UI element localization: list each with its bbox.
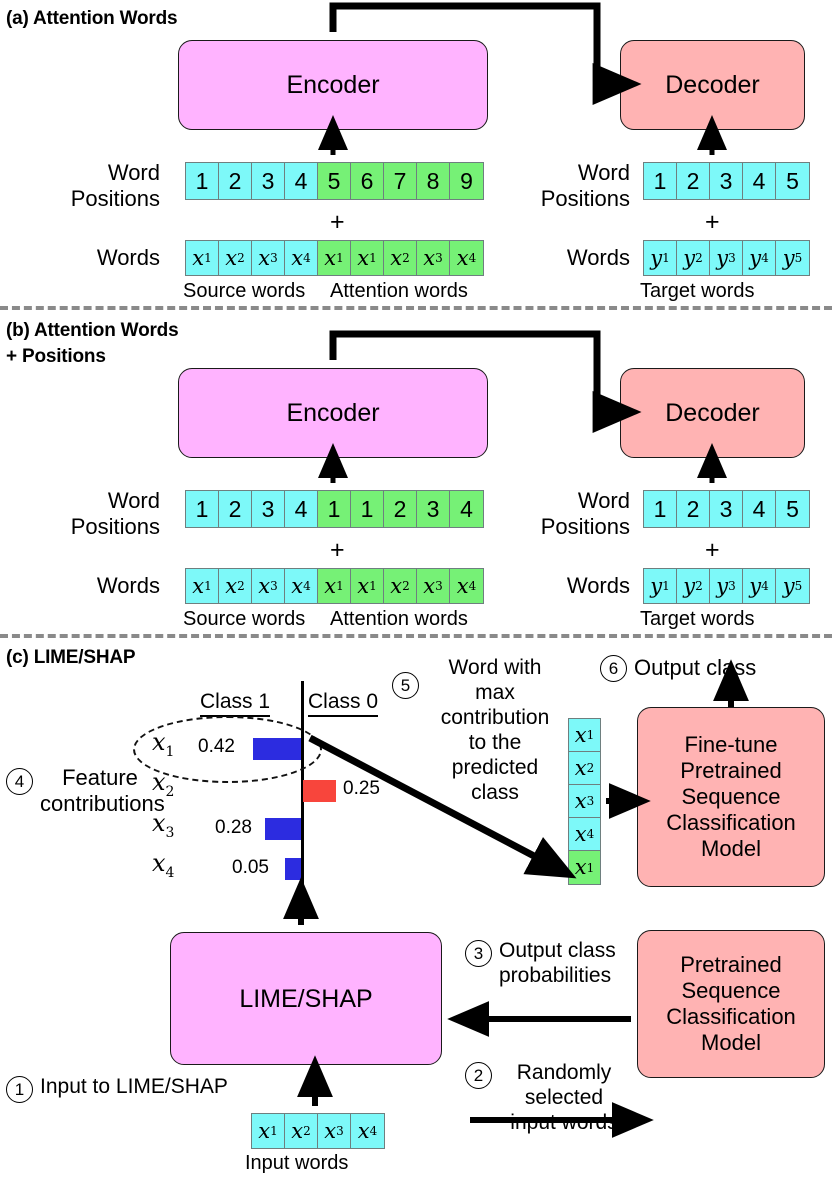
step-4-label: Feature contributions <box>40 765 160 817</box>
token-cell: x2 <box>384 569 417 603</box>
token-cell: 5 <box>776 491 809 527</box>
step-5-badge: 5 <box>392 672 419 699</box>
panel-b-target-caption: Target words <box>640 606 755 632</box>
token-cell: x1 <box>186 569 219 603</box>
panel-b-attention-caption: Attention words <box>330 606 468 632</box>
token-cell: 4 <box>743 163 776 199</box>
finetune-model-box: Fine-tune Pretrained Sequence Classifica… <box>637 707 825 887</box>
panel-a-attention-caption: Attention words <box>330 278 468 304</box>
token-cell: x2 <box>219 241 252 275</box>
step-3-label: Output class probabilities <box>499 938 639 988</box>
panel-b-title: (b) Attention Words + Positions <box>6 318 178 370</box>
token-cell: y3 <box>710 241 743 275</box>
selected-word-cell: x4 <box>569 818 600 851</box>
panel-a-decoder-positions-strip: 12345 <box>643 162 810 200</box>
panel-a-encoder-words-strip: x1x2x3x4x1x1x2x3x4 <box>185 240 484 276</box>
token-cell: y1 <box>644 569 677 603</box>
lime-shap-label: LIME/SHAP <box>239 984 372 1014</box>
selected-word-cell: x3 <box>569 785 600 818</box>
step-1-badge: 1 <box>6 1076 33 1103</box>
token-cell: x1 <box>186 241 219 275</box>
step-6-label: Output class <box>634 655 756 681</box>
panel-b-encoder-label: Encoder <box>286 398 379 428</box>
token-cell: 5 <box>318 163 351 199</box>
panel-a-target-caption: Target words <box>640 278 755 304</box>
step-2-label: Randomly selected input words <box>499 1060 629 1135</box>
panel-b-source-caption: Source words <box>183 606 305 632</box>
token-cell: x3 <box>318 1114 351 1148</box>
step-2-badge: 2 <box>465 1062 492 1089</box>
panel-a-encoder-box: Encoder <box>178 40 488 130</box>
chart-class1-header: Class 1 <box>200 690 270 717</box>
chart-highlight-ellipse <box>133 716 322 783</box>
chart-bar-x2 <box>303 780 336 802</box>
token-cell: x4 <box>285 569 318 603</box>
selected-word-cell: x1 <box>569 719 600 752</box>
panel-b-decoder-positions-strip: 12345 <box>643 490 810 528</box>
token-cell: 9 <box>450 163 483 199</box>
token-cell: 2 <box>219 163 252 199</box>
chart-bar-x4 <box>285 858 301 880</box>
token-cell: x3 <box>252 569 285 603</box>
token-cell: x1 <box>318 241 351 275</box>
panel-a-source-positions-label: Word Positions <box>60 160 160 212</box>
token-cell: y1 <box>644 241 677 275</box>
token-cell: x2 <box>384 241 417 275</box>
token-cell: 3 <box>252 163 285 199</box>
token-cell: 4 <box>285 163 318 199</box>
token-cell: y5 <box>776 241 809 275</box>
token-cell: 1 <box>644 163 677 199</box>
panel-a-decoder-box: Decoder <box>620 40 805 130</box>
panel-a-encoder-label: Encoder <box>286 70 379 100</box>
panel-a-source-words-label: Words <box>60 245 160 271</box>
lime-shap-box: LIME/SHAP <box>170 932 442 1065</box>
token-cell: x4 <box>450 569 483 603</box>
chart-class0-header: Class 0 <box>308 690 378 717</box>
token-cell: x4 <box>285 241 318 275</box>
step-4-badge: 4 <box>6 768 33 795</box>
panel-b-decoder-box: Decoder <box>620 368 805 458</box>
step-3-badge: 3 <box>465 940 492 967</box>
panel-a-plus-target: + <box>705 210 720 235</box>
token-cell: 1 <box>351 491 384 527</box>
token-cell: 4 <box>450 491 483 527</box>
step-1-label: Input to LIME/SHAP <box>40 1074 228 1100</box>
token-cell: 3 <box>252 491 285 527</box>
token-cell: 3 <box>710 491 743 527</box>
panel-b-source-words-label: Words <box>60 573 160 599</box>
token-cell: x3 <box>417 569 450 603</box>
token-cell: x3 <box>417 241 450 275</box>
token-cell: x4 <box>351 1114 384 1148</box>
panel-b-encoder-positions-strip: 123411234 <box>185 490 484 528</box>
panel-a-source-caption: Source words <box>183 278 305 304</box>
token-cell: 5 <box>776 163 809 199</box>
token-cell: y3 <box>710 569 743 603</box>
chart-bar-x3 <box>265 818 301 840</box>
token-cell: 8 <box>417 163 450 199</box>
figure-canvas: (a) Attention Words Encoder Decoder Word… <box>0 0 832 1179</box>
panel-a-title: (a) Attention Words <box>6 6 177 32</box>
step-6-badge: 6 <box>600 655 627 682</box>
token-cell: 2 <box>677 491 710 527</box>
panel-b-source-positions-label: Word Positions <box>60 488 160 540</box>
token-cell: 2 <box>384 491 417 527</box>
selected-words-column: x1x2x3x4x1 <box>568 718 601 885</box>
token-cell: 3 <box>417 491 450 527</box>
selected-word-cell: x2 <box>569 752 600 785</box>
token-cell: x1 <box>351 241 384 275</box>
token-cell: x4 <box>450 241 483 275</box>
panel-a-encoder-positions-strip: 123456789 <box>185 162 484 200</box>
token-cell: 2 <box>677 163 710 199</box>
token-cell: x1 <box>318 569 351 603</box>
divider-a-b <box>0 306 832 310</box>
panel-b-plus-target: + <box>705 538 720 563</box>
token-cell: y5 <box>776 569 809 603</box>
token-cell: 4 <box>285 491 318 527</box>
token-cell: x1 <box>252 1114 285 1148</box>
panel-a-target-positions-label: Word Positions <box>520 160 630 212</box>
divider-b-c <box>0 634 832 638</box>
panel-b-decoder-label: Decoder <box>665 398 760 428</box>
token-cell: y4 <box>743 569 776 603</box>
panel-a-decoder-words-strip: y1y2y3y4y5 <box>643 240 810 276</box>
step-5-label: Word with max contribution to the predic… <box>425 655 565 805</box>
token-cell: 3 <box>710 163 743 199</box>
token-cell: y2 <box>677 569 710 603</box>
token-cell: x2 <box>285 1114 318 1148</box>
token-cell: 1 <box>186 491 219 527</box>
token-cell: 4 <box>743 491 776 527</box>
token-cell: x3 <box>252 241 285 275</box>
pretrained-model-box: Pretrained Sequence Classification Model <box>637 930 825 1078</box>
panel-a-plus: + <box>330 210 345 235</box>
token-cell: y2 <box>677 241 710 275</box>
selected-word-cell: x1 <box>569 851 600 884</box>
token-cell: 1 <box>186 163 219 199</box>
panel-a-decoder-label: Decoder <box>665 70 760 100</box>
token-cell: 6 <box>351 163 384 199</box>
panel-b-target-words-label: Words <box>520 573 630 599</box>
finetune-model-label: Fine-tune Pretrained Sequence Classifica… <box>666 732 796 862</box>
token-cell: 7 <box>384 163 417 199</box>
chart-value-x2: 0.25 <box>343 778 380 800</box>
input-words-strip: x1x2x3x4 <box>251 1113 385 1149</box>
chart-feature-label-x4: x4 <box>152 849 174 881</box>
panel-b-encoder-box: Encoder <box>178 368 488 458</box>
input-words-caption: Input words <box>245 1150 348 1176</box>
token-cell: 1 <box>644 491 677 527</box>
panel-b-target-positions-label: Word Positions <box>520 488 630 540</box>
token-cell: 1 <box>318 491 351 527</box>
chart-value-x3: 0.28 <box>215 817 252 839</box>
panel-c-title: (c) LIME/SHAP <box>6 645 135 671</box>
token-cell: 2 <box>219 491 252 527</box>
pretrained-model-label: Pretrained Sequence Classification Model <box>666 952 796 1056</box>
chart-value-x4: 0.05 <box>232 857 269 879</box>
token-cell: x1 <box>351 569 384 603</box>
panel-b-plus: + <box>330 538 345 563</box>
token-cell: x2 <box>219 569 252 603</box>
panel-a-target-words-label: Words <box>520 245 630 271</box>
panel-b-encoder-words-strip: x1x2x3x4x1x1x2x3x4 <box>185 568 484 604</box>
token-cell: y4 <box>743 241 776 275</box>
panel-b-decoder-words-strip: y1y2y3y4y5 <box>643 568 810 604</box>
